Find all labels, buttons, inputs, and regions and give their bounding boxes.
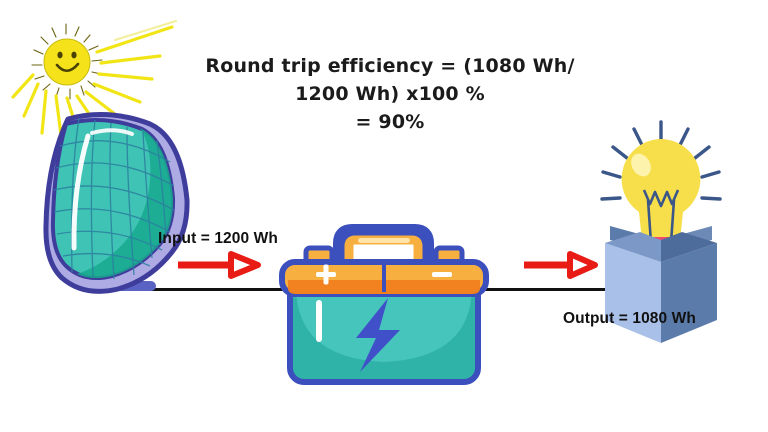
bulb-glass: [622, 139, 701, 241]
diagram-canvas: Round trip efficiency = (1080 Wh/ 1200 W…: [0, 0, 768, 432]
input-label: Input = 1200 Wh: [158, 230, 278, 248]
output-label: Output = 1080 Wh: [563, 310, 696, 328]
lightbulb-in-box-icon: [0, 0, 768, 432]
